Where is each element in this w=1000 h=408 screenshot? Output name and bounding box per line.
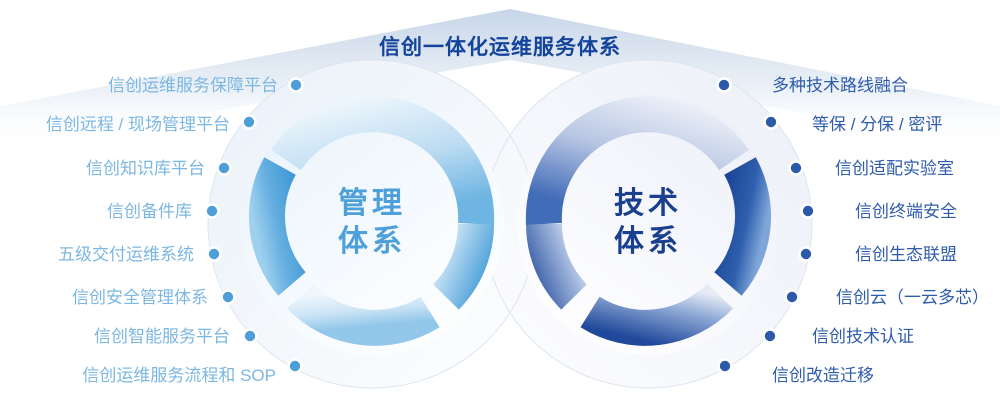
left-item-label-2[interactable]: 信创远程 / 现场管理平台 — [46, 116, 230, 133]
left-item-label-4[interactable]: 信创备件库 — [107, 203, 192, 220]
page-title: 信创一体化运维服务体系 — [0, 31, 1000, 61]
infographic-canvas: 信创一体化运维服务体系 信创运维服务保障平台 信创远程 / 现场管理平台 信创知… — [0, 0, 1000, 408]
right-item-label-4[interactable]: 信创终端安全 — [855, 203, 957, 220]
left-hub-label: 管理 体系 — [292, 185, 452, 262]
left-item-label-7[interactable]: 信创智能服务平台 — [94, 328, 230, 345]
right-hub-label: 技术 体系 — [568, 185, 728, 262]
right-item-label-2[interactable]: 等保 / 分保 / 密评 — [812, 116, 942, 133]
right-item-label-1[interactable]: 多种技术路线融合 — [772, 77, 908, 94]
left-hub-line2: 体系 — [292, 223, 452, 261]
right-item-label-6[interactable]: 信创云（一云多芯） — [836, 289, 989, 306]
left-item-label-1[interactable]: 信创运维服务保障平台 — [108, 77, 278, 94]
right-hub-line1: 技术 — [568, 185, 728, 223]
right-item-label-5[interactable]: 信创生态联盟 — [855, 246, 957, 263]
left-item-label-6[interactable]: 信创安全管理体系 — [72, 289, 208, 306]
right-item-label-3[interactable]: 信创适配实验室 — [835, 160, 954, 177]
left-item-label-8[interactable]: 信创运维服务流程和 SOP — [82, 367, 276, 384]
left-hub-line1: 管理 — [292, 185, 452, 223]
right-item-label-8[interactable]: 信创改造迁移 — [772, 367, 874, 384]
left-item-label-3[interactable]: 信创知识库平台 — [86, 160, 205, 177]
right-item-label-7[interactable]: 信创技术认证 — [812, 328, 914, 345]
left-item-label-5[interactable]: 五级交付运维系统 — [58, 246, 194, 263]
right-hub-line2: 体系 — [568, 223, 728, 261]
